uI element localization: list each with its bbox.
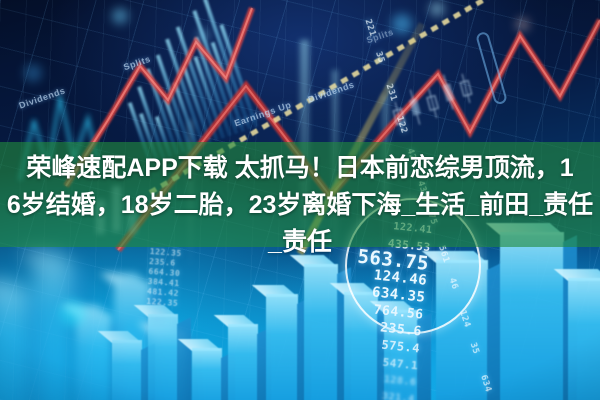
bokeh-dot [60, 300, 86, 326]
bokeh-dot [112, 8, 128, 24]
bokeh-dot [392, 14, 412, 34]
bokeh-dot [24, 64, 42, 82]
headline-line-3: _责任 [0, 224, 600, 261]
banner-image: Dividends Splits Earnings Up Dividends S… [0, 0, 600, 400]
headline-line-1: 荣峰速配APP下载 太抓马！日本前恋综男顶流，1 [0, 150, 600, 187]
bokeh-dot [198, 30, 209, 41]
ticker-value: 122.35 [146, 297, 179, 309]
bokeh-dot [516, 18, 529, 31]
headline-line-2: 6岁结婚，18岁二胎，23岁离婚下海_生活_前田_责任 [0, 187, 600, 224]
bokeh-dot [430, 2, 444, 16]
headline-text: 荣峰速配APP下载 太抓马！日本前恋综男顶流，1 6岁结婚，18岁二胎，23岁离… [0, 150, 600, 261]
